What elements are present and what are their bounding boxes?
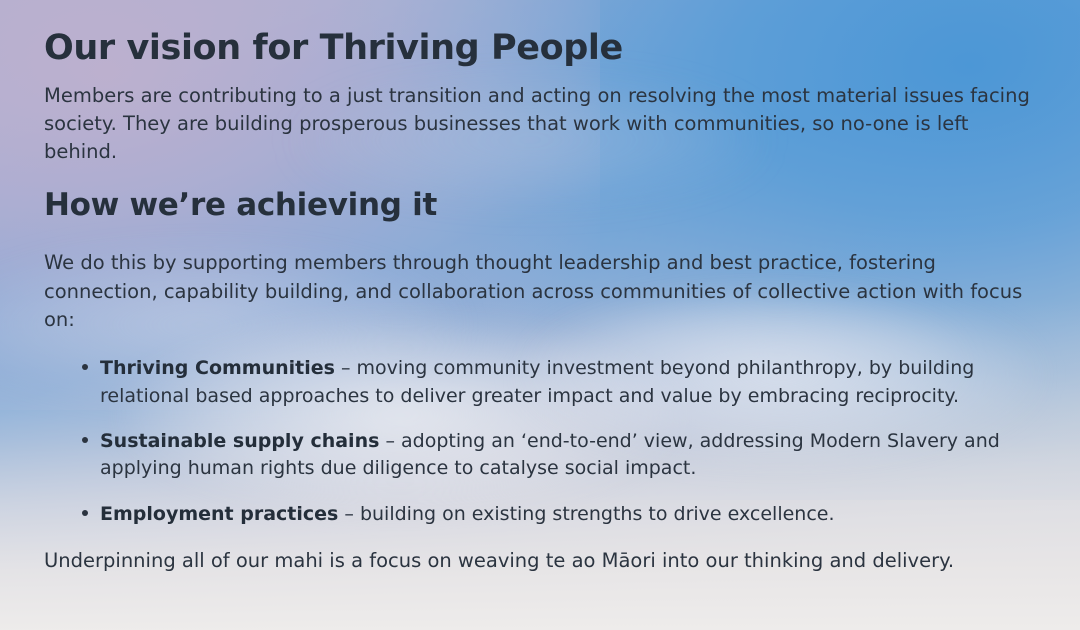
list-item: Sustainable supply chains – adopting an …: [82, 428, 1022, 483]
focus-area-term: Thriving Communities: [100, 357, 335, 379]
list-item: Employment practices – building on exist…: [82, 501, 1022, 528]
achieving-heading: How we’re achieving it: [44, 187, 1036, 223]
focus-areas-list: Thriving Communities – moving community …: [44, 355, 1036, 528]
bullet-point-icon: [82, 510, 88, 516]
bullet-point-icon: [82, 437, 88, 443]
achieving-lead-paragraph: We do this by supporting members through…: [44, 249, 1036, 334]
focus-area-detail: – building on existing strengths to driv…: [338, 503, 834, 525]
closing-statement: Underpinning all of our mahi is a focus …: [44, 547, 1036, 575]
vision-heading: Our vision for Thriving People: [44, 28, 1036, 69]
vision-intro-paragraph: Members are contributing to a just trans…: [44, 82, 1036, 165]
focus-area-term: Sustainable supply chains: [100, 430, 379, 452]
list-item: Thriving Communities – moving community …: [82, 355, 1022, 410]
bullet-point-icon: [82, 364, 88, 370]
slide-content: Our vision for Thriving People Members a…: [0, 0, 1080, 630]
focus-area-term: Employment practices: [100, 503, 338, 525]
